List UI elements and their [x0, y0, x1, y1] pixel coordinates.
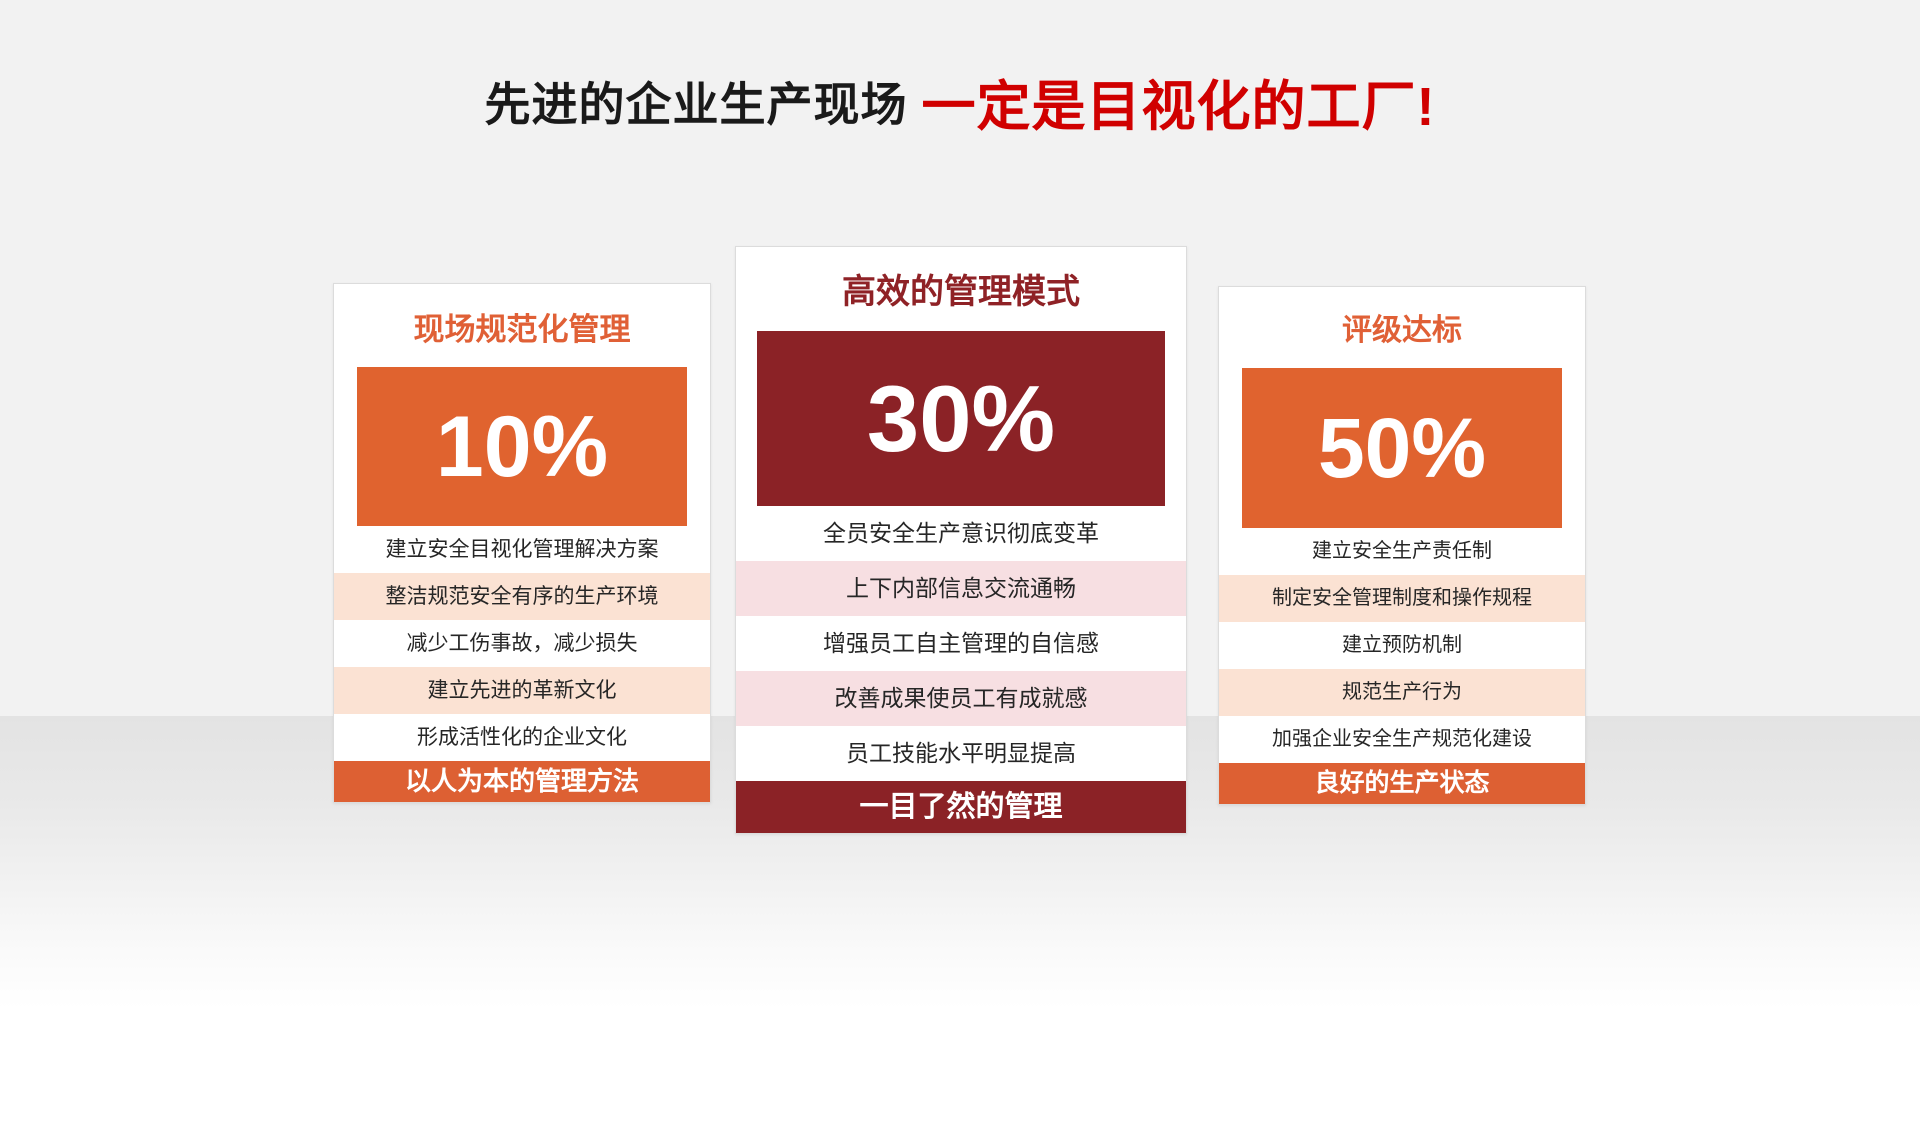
list-item[interactable]: 增强员工自主管理的自信感: [736, 616, 1186, 671]
list-item[interactable]: 建立先进的革新文化: [334, 667, 710, 714]
page-title: 先进的企业生产现场一定是目视化的工厂!: [0, 62, 1920, 141]
page-title-red-segment: 一定是目视化的工厂!: [922, 77, 1436, 137]
list-item[interactable]: 形成活性化的企业文化: [334, 714, 710, 761]
list-item[interactable]: 改善成果使员工有成就感: [736, 671, 1186, 726]
card-middle[interactable]: 高效的管理模式 30% 全员安全生产意识彻底变革 上下内部信息交流通畅 增强员工…: [735, 246, 1187, 834]
card-right-heading: 评级达标: [1219, 287, 1585, 368]
card-right-footer-banner[interactable]: 良好的生产状态: [1219, 763, 1585, 804]
card-right-stat-badge: 50%: [1242, 368, 1562, 528]
list-item[interactable]: 上下内部信息交流通畅: [736, 561, 1186, 616]
list-item[interactable]: 规范生产行为: [1219, 669, 1585, 716]
card-middle-heading: 高效的管理模式: [736, 247, 1186, 331]
card-left-footer-banner[interactable]: 以人为本的管理方法: [334, 761, 710, 802]
card-left-row-list: 建立安全目视化管理解决方案 整洁规范安全有序的生产环境 减少工伤事故，减少损失 …: [334, 526, 710, 802]
card-left[interactable]: 现场规范化管理 10% 建立安全目视化管理解决方案 整洁规范安全有序的生产环境 …: [333, 283, 711, 803]
list-item[interactable]: 建立安全生产责任制: [1219, 528, 1585, 575]
card-left-heading: 现场规范化管理: [334, 284, 710, 367]
card-right-stat-value: 50%: [1318, 406, 1486, 490]
card-right[interactable]: 评级达标 50% 建立安全生产责任制 制定安全管理制度和操作规程 建立预防机制 …: [1218, 286, 1586, 805]
list-item[interactable]: 加强企业安全生产规范化建设: [1219, 716, 1585, 763]
card-middle-stat-badge: 30%: [757, 331, 1165, 506]
card-middle-row-list: 全员安全生产意识彻底变革 上下内部信息交流通畅 增强员工自主管理的自信感 改善成…: [736, 506, 1186, 833]
card-middle-footer-banner[interactable]: 一目了然的管理: [736, 781, 1186, 833]
list-item[interactable]: 建立预防机制: [1219, 622, 1585, 669]
list-item[interactable]: 建立安全目视化管理解决方案: [334, 526, 710, 573]
list-item[interactable]: 整洁规范安全有序的生产环境: [334, 573, 710, 620]
card-left-stat-badge: 10%: [357, 367, 687, 526]
list-item[interactable]: 全员安全生产意识彻底变革: [736, 506, 1186, 561]
list-item[interactable]: 减少工伤事故，减少损失: [334, 620, 710, 667]
list-item[interactable]: 员工技能水平明显提高: [736, 726, 1186, 781]
card-middle-stat-value: 30%: [867, 372, 1055, 466]
slide-canvas: 先进的企业生产现场一定是目视化的工厂! 现场规范化管理 10% 建立安全目视化管…: [0, 0, 1920, 1123]
card-left-stat-value: 10%: [436, 404, 608, 490]
card-right-row-list: 建立安全生产责任制 制定安全管理制度和操作规程 建立预防机制 规范生产行为 加强…: [1219, 528, 1585, 804]
page-title-black-segment: 先进的企业生产现场: [485, 79, 908, 131]
list-item[interactable]: 制定安全管理制度和操作规程: [1219, 575, 1585, 622]
